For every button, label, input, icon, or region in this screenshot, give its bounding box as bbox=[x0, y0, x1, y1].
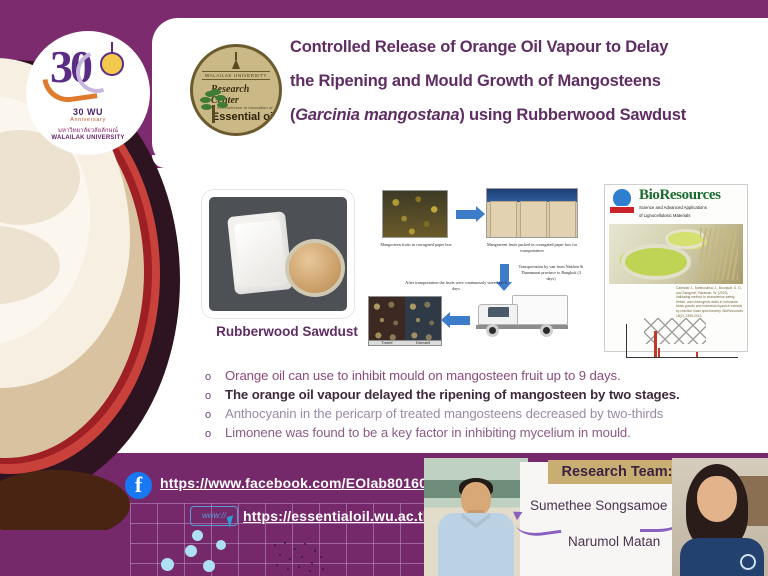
packed-boxes-photo bbox=[486, 188, 578, 238]
bullet-marker: o bbox=[205, 409, 225, 421]
flow-caption-4: After transportation the fruits were con… bbox=[404, 280, 508, 292]
title-line-2: the Ripening and Mould Growth of Mangost… bbox=[290, 64, 768, 98]
tree-icon bbox=[199, 89, 229, 123]
decor-dot bbox=[185, 545, 197, 557]
experiment-flow-diagram: Mangosteen fruits in corrugated paper bo… bbox=[364, 188, 588, 356]
list-item: o Orange oil can use to inhibit mould on… bbox=[205, 368, 765, 387]
badge-university-name: WALAILAK UNIVERSITY bbox=[202, 71, 270, 80]
flow-caption-2: Mangosteen fruits packed in corrugated p… bbox=[482, 242, 582, 254]
team-heading: Research Team: bbox=[548, 462, 686, 483]
page-title: Controlled Release of Orange Oil Vapour … bbox=[290, 30, 768, 132]
finding-text: The orange oil vapour delayed the ripeni… bbox=[225, 387, 680, 402]
photo-researcher-female bbox=[672, 458, 768, 576]
finding-text: Anthocyanin in the pericarp of treated m… bbox=[225, 406, 663, 421]
flow-arrow-left bbox=[450, 316, 470, 325]
finding-text: Orange oil can use to inhibit mould on m… bbox=[225, 368, 621, 383]
poster-canvas: 30 30 WU Anniversary มหาวิทยาลัยวลัยลักษ… bbox=[0, 0, 768, 576]
rubberwood-sawdust-photo bbox=[202, 190, 354, 318]
royal-crest-icon bbox=[96, 42, 128, 82]
sachet-image bbox=[227, 211, 293, 295]
list-item: o Limonene was found to be a key factor … bbox=[205, 425, 765, 444]
wu-anniversary-mark: 30 bbox=[42, 46, 134, 106]
research-center-badge: WALAILAK UNIVERSITY Research Center of E… bbox=[190, 44, 282, 136]
facebook-link[interactable]: https://www.facebook.com/EOlab80160 bbox=[160, 475, 427, 491]
journal-cover-photo bbox=[609, 224, 743, 284]
sample-label-untreated: Untreated bbox=[405, 340, 441, 345]
list-item: o The orange oil vapour delayed the ripe… bbox=[205, 387, 765, 406]
wu-anniversary-label: Anniversary bbox=[70, 117, 106, 123]
petri-dish-image bbox=[285, 239, 345, 297]
journal-subtitle-1: Science and Advanced Applications bbox=[639, 205, 743, 211]
decor-dot bbox=[192, 530, 203, 541]
delivery-truck-image bbox=[474, 292, 570, 342]
bullet-marker: o bbox=[205, 390, 225, 402]
journal-subtitle-2: of Lignocellulosic Materials bbox=[639, 213, 743, 219]
list-item: o Anthocyanin in the pericarp of treated… bbox=[205, 406, 765, 425]
key-findings-list: o Orange oil can use to inhibit mould on… bbox=[205, 368, 765, 444]
temple-spire-icon bbox=[231, 52, 241, 70]
journal-abstract-snippet: Calendar J., Santisouksa, J., Boonjudt, … bbox=[605, 284, 747, 318]
walailak-university-logo: 30 30 WU Anniversary มหาวิทยาลัยวลัยลักษ… bbox=[26, 31, 150, 155]
dot-cluster bbox=[270, 540, 330, 574]
decor-dot bbox=[216, 540, 226, 550]
decor-dot bbox=[203, 560, 215, 572]
bullet-marker: o bbox=[205, 371, 225, 383]
bullet-marker: o bbox=[205, 428, 225, 440]
flow-arrow-right-1 bbox=[456, 210, 476, 219]
website-link[interactable]: https://essentialoil.wu.ac.th/ bbox=[243, 508, 436, 524]
finding-text: Limonene was found to be a key factor in… bbox=[225, 425, 631, 440]
wu-name-thai: มหาวิทยาลัยวลัยลักษณ์ bbox=[58, 125, 118, 135]
facebook-icon[interactable]: f bbox=[125, 472, 152, 499]
title-line3-suffix: ) using Rubberwood Sawdust bbox=[459, 106, 686, 124]
wu-name-english: WALAILAK UNIVERSITY bbox=[51, 135, 124, 141]
title-line-3: (Garcinia mangostana) using Rubberwood S… bbox=[290, 98, 768, 132]
journal-title: BioResources bbox=[639, 188, 743, 203]
flow-caption-3: Transportation by van from Nakhon Si Tha… bbox=[516, 264, 586, 282]
bioresources-journal-cover: BioResources Science and Advanced Applic… bbox=[604, 184, 748, 352]
decor-dot bbox=[161, 558, 174, 571]
journal-logo-icon bbox=[609, 189, 635, 215]
title-line-1: Controlled Release of Orange Oil Vapour … bbox=[290, 30, 768, 64]
flow-caption-1: Mangosteen fruits in corrugated paper bo… bbox=[370, 242, 462, 248]
team-member-2: Narumol Matan bbox=[568, 534, 660, 549]
journal-chromatogram bbox=[610, 318, 742, 366]
fruits-in-box-photo bbox=[382, 190, 448, 238]
sawdust-caption: Rubberwood Sawdust bbox=[202, 324, 372, 339]
title-card-bottom-strip bbox=[152, 155, 768, 168]
treated-untreated-comparison: Treated Untreated bbox=[368, 296, 442, 346]
sample-label-treated: Treated bbox=[369, 340, 405, 345]
wu-short-name: 30 WU bbox=[73, 107, 103, 117]
species-name: Garcinia mangostana bbox=[295, 106, 459, 124]
